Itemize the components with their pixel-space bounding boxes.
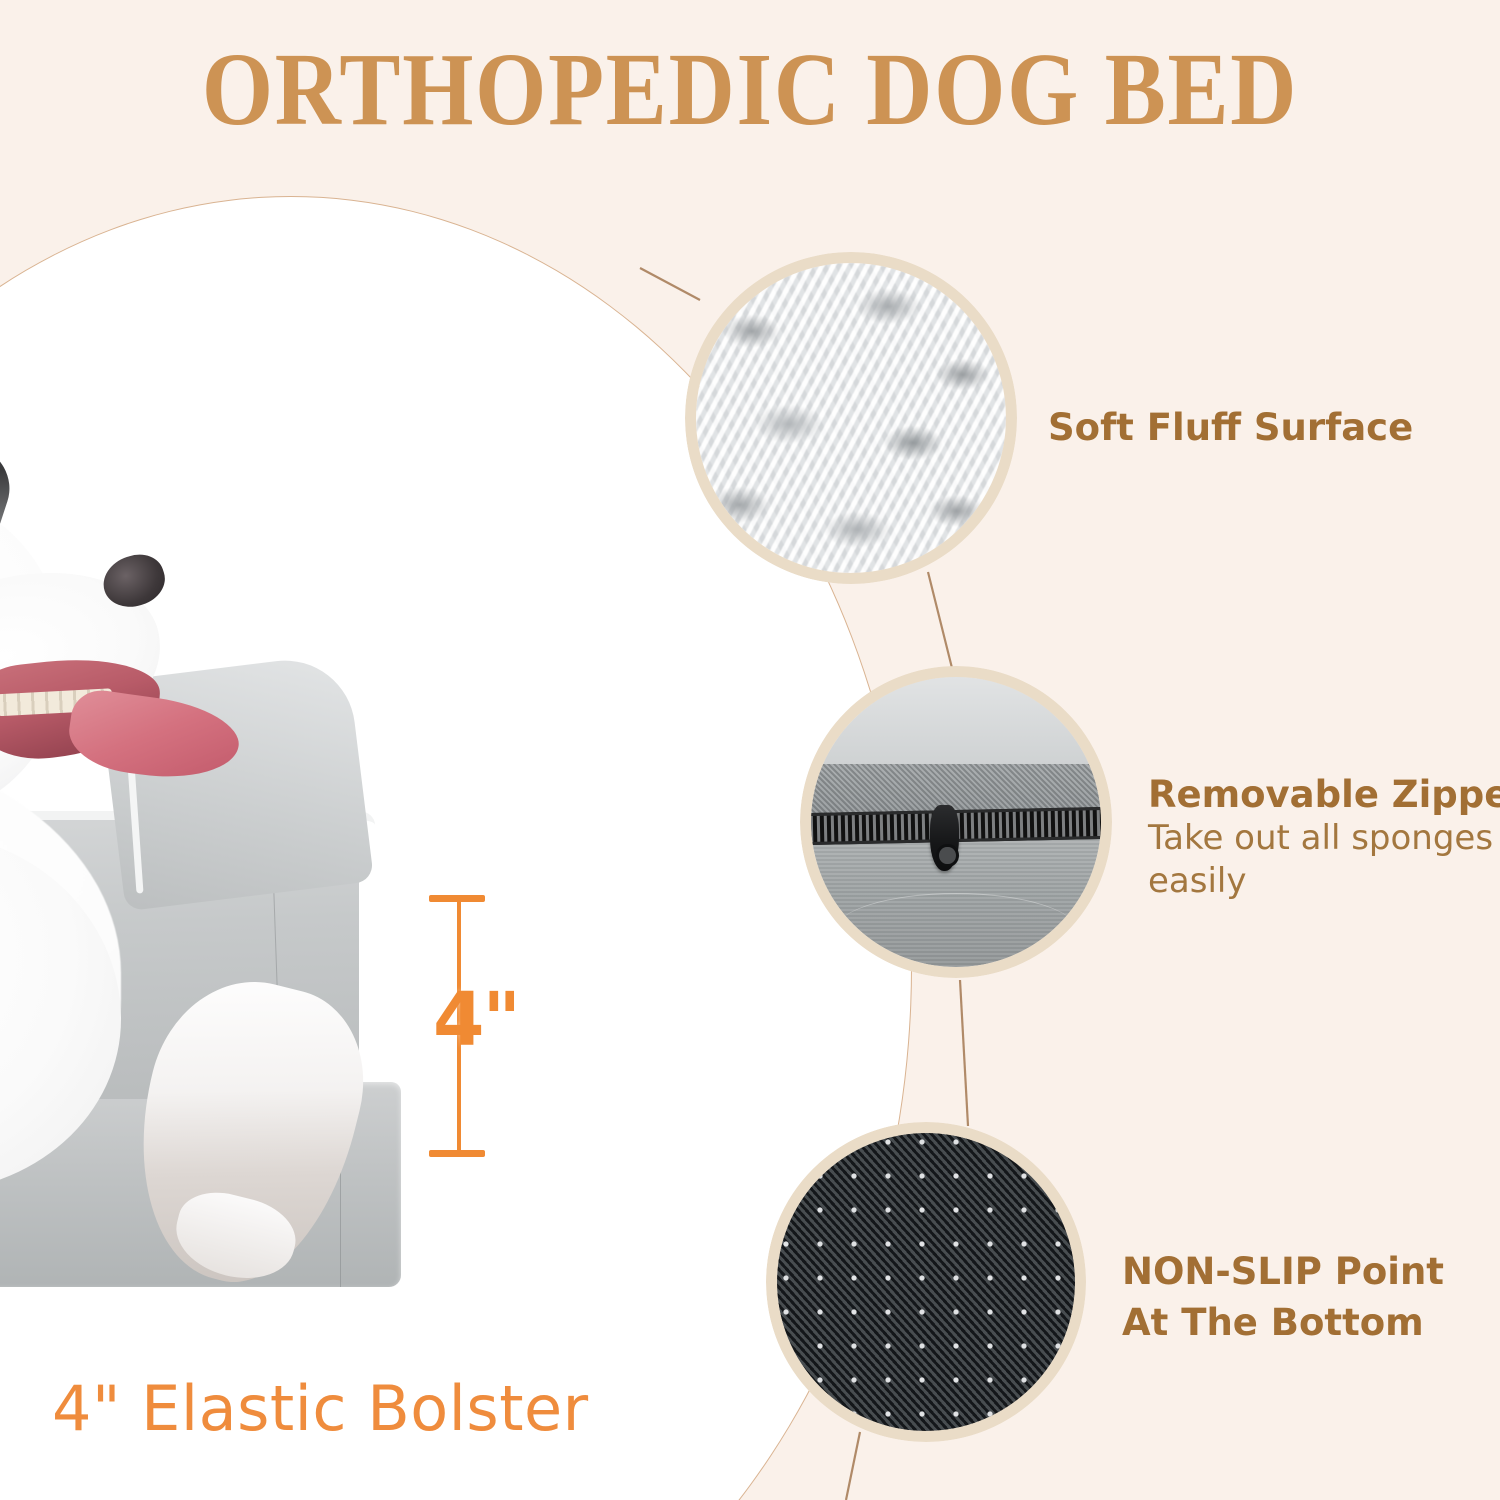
- callout-soft-fluff-surface[interactable]: [685, 252, 1017, 584]
- callout-label-soft-fluff-surface: Soft Fluff Surface: [1048, 405, 1413, 450]
- callout-label-removable-zipper: Removable Zipper Take out all sponges ea…: [1148, 772, 1500, 902]
- non-slip-dotted-grip-icon: [777, 1133, 1075, 1431]
- bolster-height-dimension: 4": [445, 895, 535, 1157]
- callout-removable-zipper[interactable]: [800, 666, 1112, 978]
- fluffy-fur-texture-icon: [696, 263, 1006, 573]
- callout-label-non-slip-bottom: NON-SLIP Point At The Bottom: [1122, 1246, 1444, 1348]
- callout-title-removable-zipper: Removable Zipper: [1148, 772, 1500, 817]
- zipper-closeup-icon: [811, 677, 1101, 967]
- callout-title-soft-fluff-surface: Soft Fluff Surface: [1048, 405, 1413, 450]
- zipper-pull-tab: [930, 805, 959, 872]
- product-infographic: ORTHOPEDIC DOG BED: [0, 0, 1500, 1500]
- dog-front-paw-right: [108, 961, 384, 1303]
- dog-tongue: [64, 687, 243, 788]
- footer-caption: 4" Elastic Bolster: [52, 1372, 589, 1445]
- callout-title-non-slip-line1: NON-SLIP Point: [1122, 1246, 1444, 1297]
- dog-chest: [0, 832, 121, 1192]
- callout-title-non-slip-line2: At The Bottom: [1122, 1297, 1444, 1348]
- callout-non-slip-bottom[interactable]: [766, 1122, 1086, 1442]
- callout-subtitle-removable-zipper: Take out all sponges easily: [1148, 817, 1500, 902]
- dimension-value-label: 4": [433, 983, 519, 1057]
- dog-head: [0, 452, 141, 852]
- dimension-cap-bottom: [429, 1150, 485, 1157]
- dog-photo: [0, 412, 431, 1302]
